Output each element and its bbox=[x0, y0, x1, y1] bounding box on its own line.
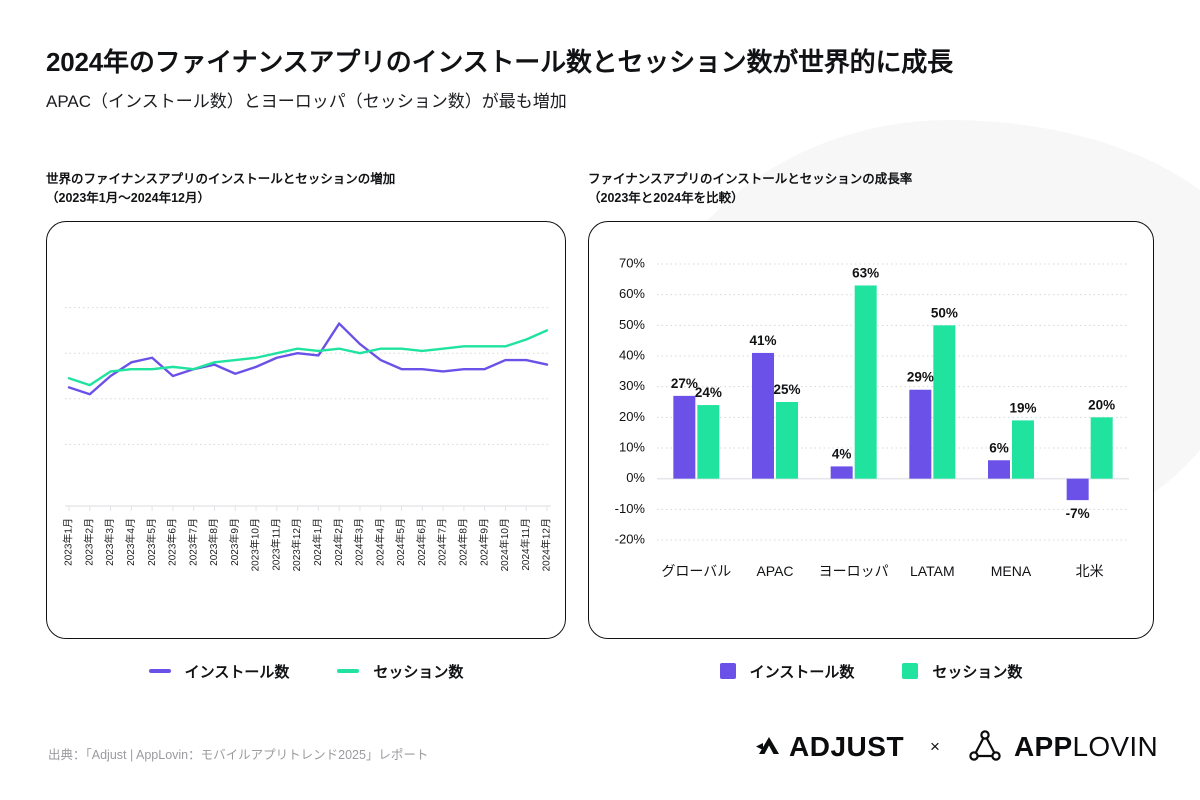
svg-text:41%: 41% bbox=[749, 333, 776, 348]
svg-text:24%: 24% bbox=[695, 385, 722, 400]
svg-text:2023年2月: 2023年2月 bbox=[82, 518, 95, 566]
infographic-page: 2024年のファイナンスアプリのインストール数とセッション数が世界的に成長 AP… bbox=[0, 0, 1200, 800]
svg-text:2023年10月: 2023年10月 bbox=[249, 518, 262, 571]
svg-text:25%: 25% bbox=[773, 382, 800, 397]
source-note: 出典：「Adjust | AppLovin：モバイルアプリトレンド2025」レポ… bbox=[48, 744, 428, 763]
legend-label-installs: インストール数 bbox=[185, 661, 290, 682]
svg-text:50%: 50% bbox=[931, 305, 958, 320]
svg-text:2024年12月: 2024年12月 bbox=[540, 518, 553, 571]
svg-text:2024年3月: 2024年3月 bbox=[353, 518, 366, 566]
svg-text:2023年3月: 2023年3月 bbox=[103, 518, 116, 566]
svg-text:2024年2月: 2024年2月 bbox=[332, 518, 345, 566]
svg-text:2024年10月: 2024年10月 bbox=[498, 518, 511, 571]
bar-chart-title: ファイナンスアプリのインストールとセッションの成長率 （2023年と2024年を… bbox=[588, 170, 1154, 209]
legend-box-swatch-installs bbox=[720, 663, 736, 679]
svg-text:2023年1月: 2023年1月 bbox=[62, 518, 75, 566]
legend-label-installs-bar: インストール数 bbox=[750, 661, 855, 682]
svg-text:20%: 20% bbox=[619, 409, 645, 424]
legend-item-sessions[interactable]: セッション数 bbox=[337, 661, 463, 682]
svg-text:40%: 40% bbox=[619, 347, 645, 362]
svg-text:2023年7月: 2023年7月 bbox=[186, 518, 199, 566]
applovin-logo: APPLOVIN bbox=[966, 730, 1158, 764]
legend-line-swatch-sessions bbox=[337, 669, 359, 673]
svg-text:2023年4月: 2023年4月 bbox=[124, 518, 137, 566]
line-chart-card: 2023年1月2023年2月2023年3月2023年4月2023年5月2023年… bbox=[46, 221, 566, 639]
line-chart-title-line1: 世界のファイナンスアプリのインストールとセッションの増加 bbox=[46, 172, 395, 186]
svg-text:-7%: -7% bbox=[1066, 506, 1090, 521]
svg-text:2023年9月: 2023年9月 bbox=[228, 518, 241, 566]
svg-text:2023年5月: 2023年5月 bbox=[145, 518, 158, 566]
legend-line-swatch-installs bbox=[149, 669, 171, 673]
svg-text:2023年6月: 2023年6月 bbox=[166, 518, 179, 566]
svg-text:ヨーロッパ: ヨーロッパ bbox=[819, 563, 889, 579]
svg-text:20%: 20% bbox=[1088, 397, 1115, 412]
svg-text:29%: 29% bbox=[907, 369, 934, 384]
svg-text:2023年11月: 2023年11月 bbox=[269, 518, 282, 571]
svg-text:63%: 63% bbox=[852, 265, 879, 280]
logo-separator: × bbox=[926, 737, 944, 757]
svg-text:27%: 27% bbox=[671, 376, 698, 391]
svg-text:2023年12月: 2023年12月 bbox=[290, 518, 303, 571]
svg-text:2024年4月: 2024年4月 bbox=[373, 518, 386, 566]
legend-item-sessions-bar[interactable]: セッション数 bbox=[902, 661, 1022, 682]
svg-text:2023年8月: 2023年8月 bbox=[207, 518, 220, 566]
legend-box-swatch-sessions bbox=[902, 663, 918, 679]
line-chart-title-line2: （2023年1月〜2024年12月） bbox=[46, 189, 566, 208]
svg-text:MENA: MENA bbox=[991, 563, 1032, 579]
svg-text:60%: 60% bbox=[619, 286, 645, 301]
svg-text:2024年11月: 2024年11月 bbox=[519, 518, 532, 571]
svg-text:50%: 50% bbox=[619, 317, 645, 332]
svg-text:-20%: -20% bbox=[615, 531, 646, 546]
page-subtitle: APAC（インストール数）とヨーロッパ（セッション数）が最も増加 bbox=[46, 91, 953, 113]
bar-chart-title-line2: （2023年と2024年を比較） bbox=[588, 189, 1154, 208]
svg-text:APAC: APAC bbox=[756, 563, 793, 579]
page-title: 2024年のファイナンスアプリのインストール数とセッション数が世界的に成長 bbox=[46, 46, 953, 79]
line-chart-panel: 世界のファイナンスアプリのインストールとセッションの増加 （2023年1月〜20… bbox=[46, 170, 566, 682]
svg-text:2024年5月: 2024年5月 bbox=[394, 518, 407, 566]
legend-item-installs[interactable]: インストール数 bbox=[149, 661, 290, 682]
applovin-triangle-icon bbox=[966, 730, 1004, 764]
svg-text:70%: 70% bbox=[619, 255, 645, 270]
svg-text:2024年1月: 2024年1月 bbox=[311, 518, 324, 566]
applovin-wordmark-bold: APP bbox=[1014, 731, 1072, 762]
svg-text:10%: 10% bbox=[619, 439, 645, 454]
svg-text:0%: 0% bbox=[626, 470, 645, 485]
line-chart-svg: 2023年1月2023年2月2023年3月2023年4月2023年5月2023年… bbox=[47, 222, 567, 640]
svg-text:2024年7月: 2024年7月 bbox=[436, 518, 449, 566]
svg-text:4%: 4% bbox=[832, 446, 852, 461]
line-chart-legend: インストール数 セッション数 bbox=[46, 661, 566, 682]
adjust-mark-icon bbox=[756, 734, 786, 760]
svg-text:6%: 6% bbox=[989, 440, 1009, 455]
logo-group: ADJUST × APPLOVIN bbox=[756, 730, 1158, 764]
svg-text:北米: 北米 bbox=[1076, 563, 1104, 579]
svg-text:2024年6月: 2024年6月 bbox=[415, 518, 428, 566]
svg-text:-10%: -10% bbox=[615, 501, 646, 516]
svg-text:LATAM: LATAM bbox=[910, 563, 955, 579]
adjust-logo: ADJUST bbox=[756, 731, 904, 763]
svg-text:2024年8月: 2024年8月 bbox=[457, 518, 470, 566]
applovin-wordmark-light: LOVIN bbox=[1072, 731, 1158, 762]
header: 2024年のファイナンスアプリのインストール数とセッション数が世界的に成長 AP… bbox=[46, 46, 953, 113]
bar-chart-svg: 70%60%50%40%30%20%10%0%-10%-20%27%24%グロー… bbox=[589, 222, 1155, 640]
legend-item-installs-bar[interactable]: インストール数 bbox=[720, 661, 855, 682]
svg-text:2024年9月: 2024年9月 bbox=[477, 518, 490, 566]
applovin-wordmark: APPLOVIN bbox=[1014, 731, 1158, 763]
svg-text:グローバル: グローバル bbox=[661, 563, 731, 579]
legend-label-sessions: セッション数 bbox=[373, 661, 463, 682]
footer: 出典：「Adjust | AppLovin：モバイルアプリトレンド2025」レポ… bbox=[0, 714, 1200, 800]
bar-chart-title-line1: ファイナンスアプリのインストールとセッションの成長率 bbox=[588, 172, 912, 186]
svg-text:19%: 19% bbox=[1009, 400, 1036, 415]
bar-chart-panel: ファイナンスアプリのインストールとセッションの成長率 （2023年と2024年を… bbox=[588, 170, 1154, 682]
adjust-wordmark: ADJUST bbox=[789, 731, 904, 763]
legend-label-sessions-bar: セッション数 bbox=[932, 661, 1022, 682]
bar-chart-card: 70%60%50%40%30%20%10%0%-10%-20%27%24%グロー… bbox=[588, 221, 1154, 639]
line-chart-title: 世界のファイナンスアプリのインストールとセッションの増加 （2023年1月〜20… bbox=[46, 170, 566, 209]
svg-text:30%: 30% bbox=[619, 378, 645, 393]
bar-chart-legend: インストール数 セッション数 bbox=[588, 661, 1154, 682]
